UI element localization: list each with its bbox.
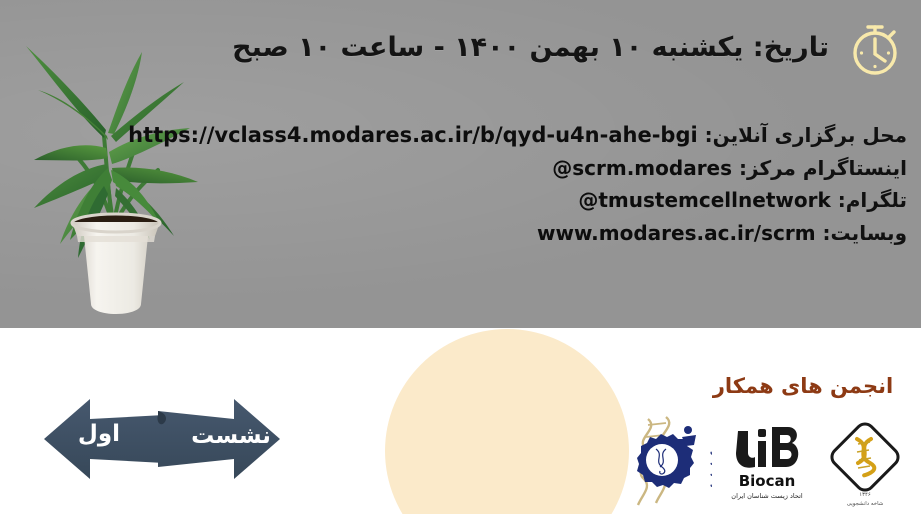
- contact-block: محل برگزاری آنلاین: https://vclass4.moda…: [17, 118, 907, 249]
- contact-row-online-venue: محل برگزاری آنلاین: https://vclass4.moda…: [17, 118, 907, 152]
- contact-value-instagram[interactable]: @scrm.modares: [552, 152, 732, 184]
- contact-label: وبسایت:: [823, 221, 907, 245]
- partner-logos: انجمن علمی دانشجویی بیو تکنولوژی: [626, 412, 916, 512]
- contact-row-telegram: تلگرام: @tmustemcellnetwork: [17, 184, 907, 216]
- contact-row-instagram: اینستاگرام مرکز: @scrm.modares: [17, 152, 907, 184]
- biocan-logo: Biocan اتحاد زیست شناسان ایران: [724, 413, 810, 511]
- logo1-line4: بیو تکنولوژی: [710, 479, 712, 488]
- partners-title: انجمن های همکار: [703, 374, 903, 398]
- student-branch-logo: ۱۳۴۶ شاخه دانشجویی: [822, 413, 908, 511]
- stopwatch-icon: [844, 17, 906, 79]
- logo3-subtitle: شاخه دانشجویی: [847, 501, 884, 507]
- session-arrow-banner: نشست اول: [36, 391, 288, 487]
- poster-root: تاریخ: یکشنبه ۱۰ بهمن ۱۴۰۰ - ساعت ۱۰ صبح…: [0, 0, 921, 514]
- contact-value-telegram[interactable]: @tmustemcellnetwork: [578, 184, 830, 216]
- biotechnology-student-association-logo: انجمن علمی دانشجویی بیو تکنولوژی: [626, 413, 712, 511]
- logo3-year: ۱۳۴۶: [859, 492, 871, 498]
- contact-value-website[interactable]: www.modares.ac.ir/scrm: [537, 217, 816, 249]
- biocan-brand: Biocan: [739, 472, 796, 490]
- contact-label: اینستاگرام مرکز:: [739, 156, 907, 180]
- biocan-subtitle: اتحاد زیست شناسان ایران: [731, 492, 803, 500]
- logo1-line3: دانشجویی: [710, 468, 712, 477]
- event-date-line: تاریخ: یکشنبه ۱۰ بهمن ۱۴۰۰ - ساعت ۱۰ صبح: [229, 30, 829, 66]
- contact-label: محل برگزاری آنلاین:: [705, 123, 907, 147]
- logo1-line1: انجمن: [710, 446, 712, 455]
- contact-value-url[interactable]: https://vclass4.modares.ac.ir/b/qyd-u4n-…: [128, 118, 698, 152]
- logo1-line2: علمی: [710, 457, 712, 466]
- contact-row-website: وبسایت: www.modares.ac.ir/scrm: [17, 217, 907, 249]
- contact-label: تلگرام:: [838, 188, 907, 212]
